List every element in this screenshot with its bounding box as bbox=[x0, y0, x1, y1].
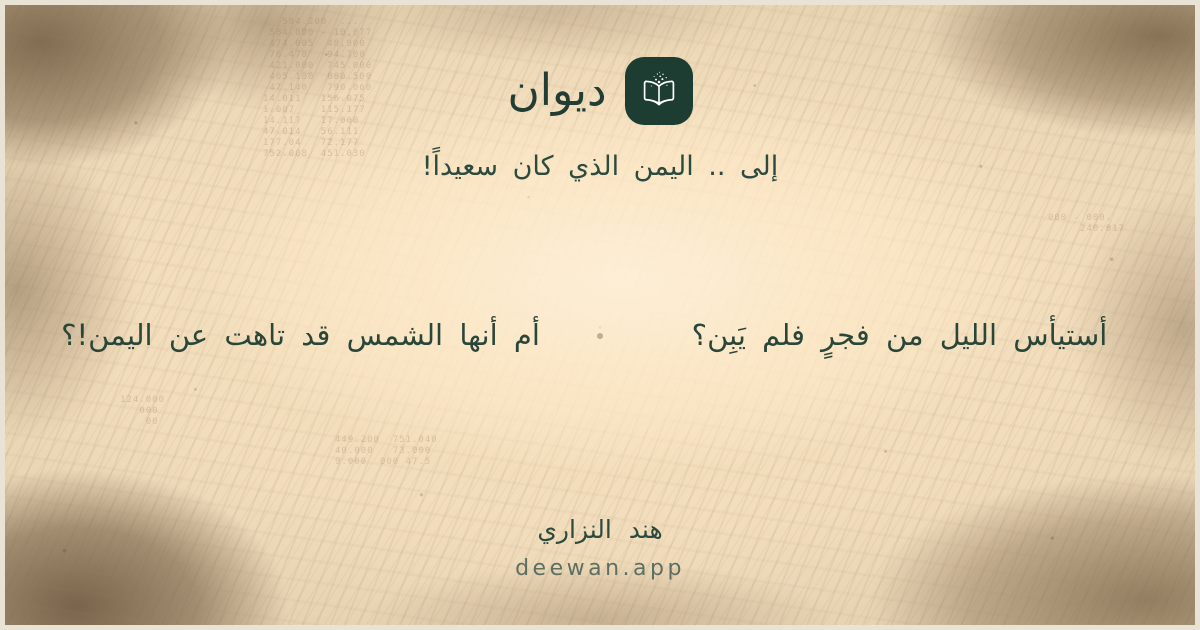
verse-block: أستيأس الليل من فجرٍ فلم يَبِن؟ أم أنها … bbox=[5, 182, 1195, 515]
card-content: ديوان إلى .. اليمن الذي كان سعيداً! أستي… bbox=[5, 5, 1195, 625]
verse-separator-dot bbox=[597, 333, 603, 339]
open-book-sparkles-icon bbox=[625, 57, 693, 125]
site-url: deewan.app bbox=[515, 556, 685, 581]
card-footer: هند النزاري deewan.app bbox=[515, 515, 685, 581]
brand-name: ديوان bbox=[507, 69, 606, 113]
brand-header: ديوان bbox=[507, 57, 692, 125]
verse-second-hemistich: أم أنها الشمس قد تاهت عن اليمن!؟ bbox=[10, 314, 591, 358]
verse-first-hemistich: أستيأس الليل من فجرٍ فلم يَبِن؟ bbox=[609, 314, 1190, 358]
poet-name: هند النزاري bbox=[537, 515, 662, 544]
poem-title: إلى .. اليمن الذي كان سعيداً! bbox=[422, 151, 779, 182]
poem-share-card: ... 584.200 10,077 - 584.090 48,900 474.… bbox=[0, 0, 1200, 630]
verse-line: أستيأس الليل من فجرٍ فلم يَبِن؟ أم أنها … bbox=[10, 314, 1190, 358]
